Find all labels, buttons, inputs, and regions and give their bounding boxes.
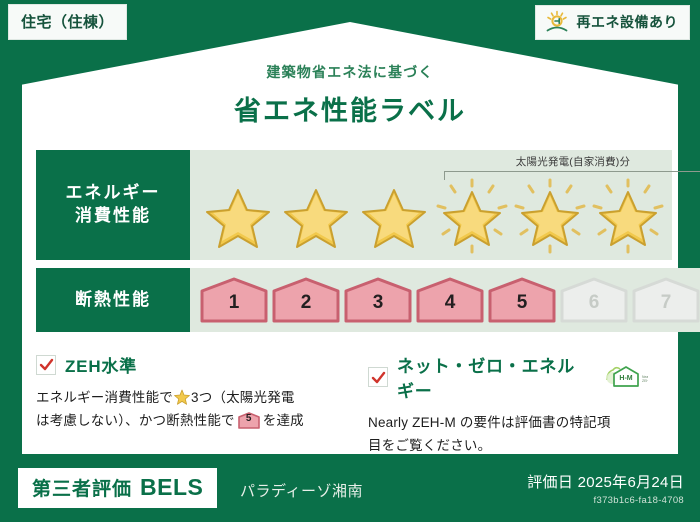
net-zero-heading: ネット・ゼロ・エネルギー H-M Nearly ZEH-M	[368, 352, 648, 402]
star-filled	[200, 178, 276, 254]
solar-annotation: 太陽光発電(自家消費)分	[444, 154, 700, 180]
zeh-m-logo-icon: H-M Nearly ZEH-M	[604, 364, 648, 390]
zeh-standard-title: ZEH水準	[65, 352, 137, 377]
net-zero-title: ネット・ゼロ・エネルギー	[397, 352, 589, 402]
energy-row-label: エネルギー 消費性能	[36, 150, 190, 260]
insulation-level-number: 5	[517, 292, 528, 323]
insulation-level-number: 2	[301, 292, 312, 323]
bels-jp-label: 第三者評価	[32, 474, 132, 501]
zeh-standard-heading: ZEH水準	[36, 352, 334, 377]
row-energy-performance: エネルギー 消費性能 太陽光発電(自家消費)分	[36, 150, 664, 260]
title-subtitle: 建築物省エネ法に基づく	[0, 62, 700, 82]
insulation-level-badge: 1	[200, 277, 268, 323]
insulation-level-badge: 3	[344, 277, 412, 323]
insulation-level-badge: 6	[560, 277, 628, 323]
insulation-row-value: 1 2 3 4 5	[190, 268, 700, 332]
insulation-level-number: 3	[373, 292, 384, 323]
energy-label-line2: 消費性能	[75, 205, 151, 228]
sun-icon	[544, 10, 570, 34]
building-type-tag: 住宅（住棟）	[8, 4, 127, 40]
insulation-label: 断熱性能	[75, 289, 151, 312]
net-zero-body-part1: Nearly ZEH-M の要件は評価書の特記項	[368, 415, 611, 430]
zeh-body-part3: を達成	[263, 413, 304, 428]
star-filled-shining	[512, 178, 588, 254]
performance-rows: エネルギー 消費性能 太陽光発電(自家消費)分	[36, 150, 664, 340]
insulation-inline-number: 5	[238, 412, 260, 429]
zeh-body-part1: エネルギー消費性能で	[36, 390, 173, 405]
star-filled	[278, 178, 354, 254]
title-main: 省エネ性能ラベル	[0, 89, 700, 128]
evaluation-info: 評価日 2025年6月24日 f373b1c6-fa18-4708	[527, 471, 684, 506]
svg-text:ZEH-M: ZEH-M	[642, 379, 648, 383]
energy-row-value: 太陽光発電(自家消費)分	[190, 150, 672, 260]
renewable-badge-label: 再エネ設備あり	[577, 12, 679, 32]
star-filled-shining	[434, 178, 510, 254]
bels-certification-plate: 第三者評価 BELS	[18, 468, 217, 508]
building-name: パラディーゾ湘南	[240, 480, 363, 501]
page-title: 建築物省エネ法に基づく 省エネ性能ラベル	[0, 62, 700, 128]
star-inline-icon	[174, 389, 190, 405]
insulation-level-badge: 2	[272, 277, 340, 323]
insulation-level-number: 4	[445, 292, 456, 323]
net-zero-body: Nearly ZEH-M の要件は評価書の特記項目をご覧ください。	[368, 411, 648, 457]
checkmark-icon	[36, 355, 56, 375]
insulation-level-inline-badge: 5	[238, 412, 260, 429]
insulation-row-label: 断熱性能	[36, 268, 190, 332]
svg-text:H-M: H-M	[619, 375, 632, 382]
star-filled	[356, 178, 432, 254]
bels-en-label: BELS	[140, 474, 203, 501]
insulation-level-badge: 7	[632, 277, 700, 323]
insulation-level-badge: 4	[416, 277, 484, 323]
certification-statements: ZEH水準 エネルギー消費性能で3つ（太陽光発電は考慮しない）、かつ断熱性能で5…	[36, 352, 664, 457]
star-filled-shining	[590, 178, 666, 254]
row-insulation-performance: 断熱性能 1 2 3	[36, 268, 664, 332]
zeh-body-part2: は考慮しない）、かつ断熱性能で	[36, 413, 235, 428]
checkmark-icon	[368, 367, 388, 387]
energy-label-line1: エネルギー	[66, 182, 161, 205]
zeh-body-star-text: 3つ（太陽光発電	[191, 390, 295, 405]
evaluation-date: 評価日 2025年6月24日	[527, 471, 684, 492]
statement-zeh-standard: ZEH水準 エネルギー消費性能で3つ（太陽光発電は考慮しない）、かつ断熱性能で5…	[36, 352, 350, 457]
renewable-equipment-badge: 再エネ設備あり	[535, 5, 691, 40]
insulation-level-number: 6	[589, 292, 600, 323]
insulation-level-number: 1	[229, 292, 240, 323]
energy-performance-label: 住宅（住棟） 再エネ設備あり 建築物省エネ法に基づく 省エネ性能ラベル	[0, 0, 700, 522]
evaluation-id: f373b1c6-fa18-4708	[527, 495, 684, 506]
statement-net-zero-energy: ネット・ゼロ・エネルギー H-M Nearly ZEH-M Nearly ZEH…	[350, 352, 664, 457]
energy-star-rating	[190, 178, 672, 260]
building-type-label: 住宅（住棟）	[21, 14, 114, 31]
insulation-level-number: 7	[661, 292, 672, 323]
zeh-standard-body: エネルギー消費性能で3つ（太陽光発電は考慮しない）、かつ断熱性能で5を達成	[36, 386, 334, 432]
label-footer: 第三者評価 BELS パラディーゾ湘南 評価日 2025年6月24日 f373b…	[0, 460, 700, 522]
net-zero-body-part2: 目をご覧ください。	[368, 438, 491, 453]
insulation-level-scale: 1 2 3 4 5	[190, 277, 700, 323]
insulation-level-badge: 5	[488, 277, 556, 323]
solar-annotation-label: 太陽光発電(自家消費)分	[444, 154, 700, 169]
